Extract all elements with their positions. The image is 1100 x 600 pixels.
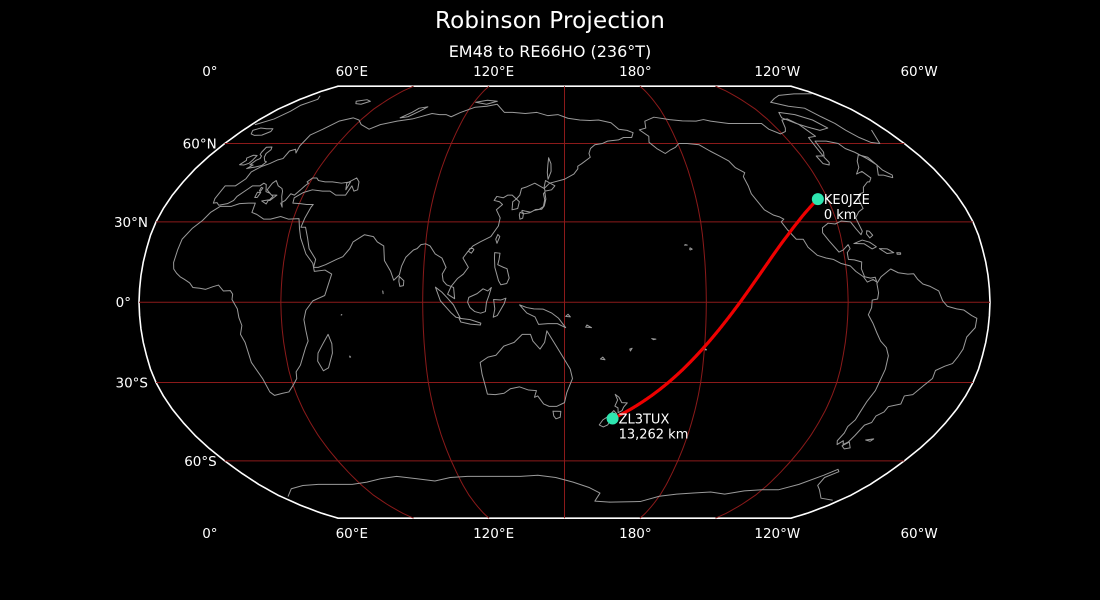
station-marker-ke0jze[interactable]: KE0JZE0 km [812,193,870,223]
lat-tick-left-0: 60°N [183,137,217,153]
lat-tick-left-4: 60°S [184,454,217,470]
lon-tick-bottom-3: 120°W [754,526,800,542]
marker-dot[interactable] [607,413,619,425]
lon-tick-top-2: 180° [619,64,652,80]
lon-tick-bottom-4: 60°W [900,526,937,542]
graticule-lines [139,86,990,518]
marker-callsign-label: KE0JZE [824,193,870,208]
lon-tick-top-1: 120°E [473,64,514,80]
coastlines [174,94,977,502]
map-canvas[interactable]: KE0JZE0 kmZL3TUX13,262 km 60°E120°E180°1… [0,0,1100,600]
map-svg[interactable]: KE0JZE0 kmZL3TUX13,262 km 60°E120°E180°1… [0,0,1100,600]
map-figure: Robinson Projection EM48 to RE66HO (236°… [0,0,1100,600]
marker-distance-label: 0 km [824,208,857,223]
lon-tick-top-3: 120°W [754,64,800,80]
lat-tick-left-3: 30°S [116,376,149,392]
lon-tick-top-5: 0° [202,64,217,80]
lon-tick-bottom-1: 120°E [473,526,514,542]
lon-tick-bottom-2: 180° [619,526,652,542]
lat-tick-left-2: 0° [116,295,131,311]
marker-distance-label: 13,262 km [619,428,689,443]
station-markers[interactable]: KE0JZE0 kmZL3TUX13,262 km [607,193,870,442]
lon-tick-bottom-5: 0° [202,526,217,542]
lon-tick-top-0: 60°E [336,64,368,80]
lon-tick-top-4: 60°W [900,64,937,80]
lon-tick-bottom-0: 60°E [336,526,368,542]
lat-tick-left-1: 30°N [114,215,148,231]
great-circle-path [613,199,818,418]
marker-callsign-label: ZL3TUX [619,413,670,428]
marker-dot[interactable] [812,193,824,205]
station-marker-zl3tux[interactable]: ZL3TUX13,262 km [607,413,689,443]
